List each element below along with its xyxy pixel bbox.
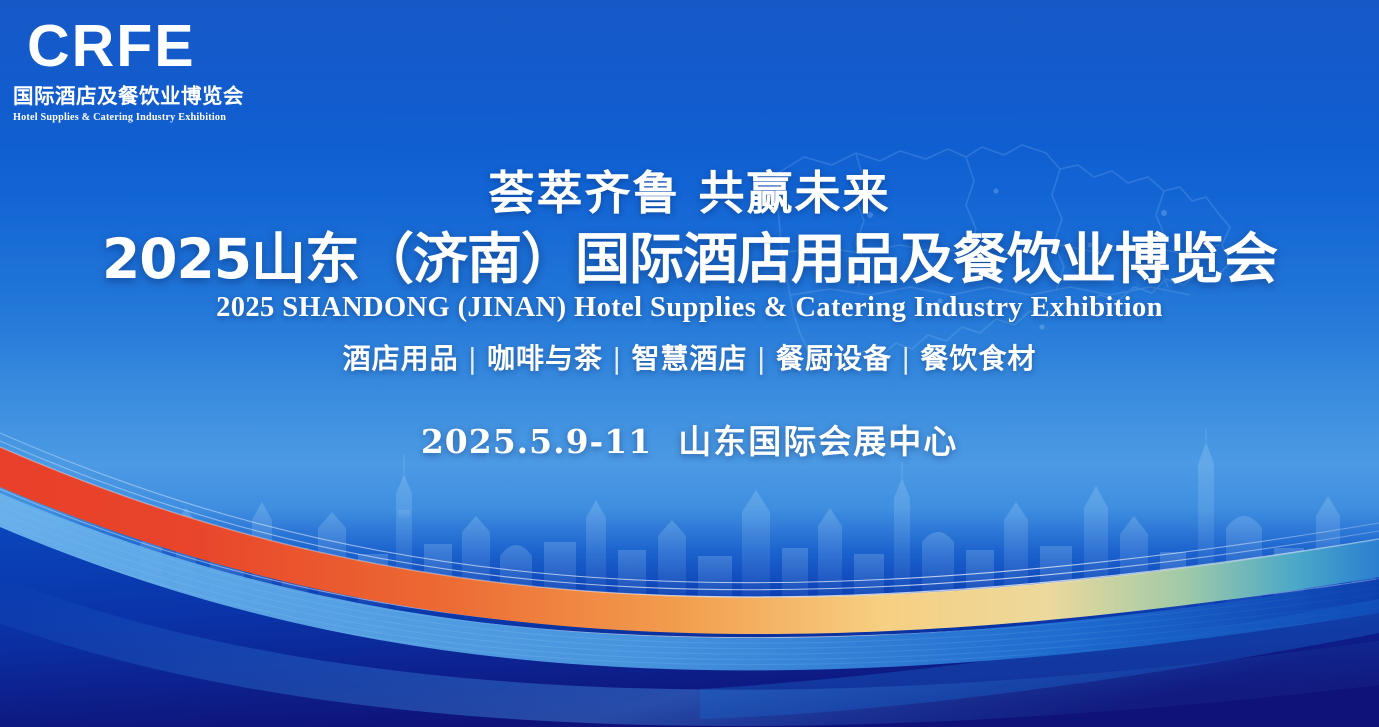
- category-item: 酒店用品: [343, 342, 459, 375]
- category-item: 智慧酒店: [631, 342, 747, 375]
- promo-banner: CRFE 国际酒店及餐饮业博览会 Hotel Supplies & Cateri…: [0, 0, 1379, 727]
- crfe-logo: CRFE 国际酒店及餐饮业博览会 Hotel Supplies & Cateri…: [13, 18, 245, 123]
- category-item: 餐饮食材: [920, 342, 1036, 375]
- category-item: 餐厨设备: [776, 342, 892, 375]
- category-item: 咖啡与茶: [487, 342, 603, 375]
- title-en: 2025 SHANDONG (JINAN) Hotel Supplies & C…: [0, 291, 1379, 324]
- wave-graphic: [0, 427, 1379, 727]
- logo-acronym: CRFE: [13, 18, 245, 74]
- category-list: 酒店用品|咖啡与茶|智慧酒店|餐厨设备|餐饮食材: [0, 342, 1379, 376]
- category-separator: |: [603, 342, 631, 375]
- logo-name-cn: 国际酒店及餐饮业博览会: [13, 79, 245, 109]
- banner-copy: 荟萃齐鲁 共赢未来 2025山东（济南）国际酒店用品及餐饮业博览会 2025 S…: [0, 168, 1379, 463]
- category-separator: |: [892, 342, 920, 375]
- logo-name-en: Hotel Supplies & Catering Industry Exhib…: [13, 112, 245, 123]
- slogan: 荟萃齐鲁 共赢未来: [0, 168, 1379, 219]
- category-separator: |: [459, 342, 487, 375]
- title-cn: 2025山东（济南）国际酒店用品及餐饮业博览会: [0, 230, 1379, 289]
- category-separator: |: [748, 342, 776, 375]
